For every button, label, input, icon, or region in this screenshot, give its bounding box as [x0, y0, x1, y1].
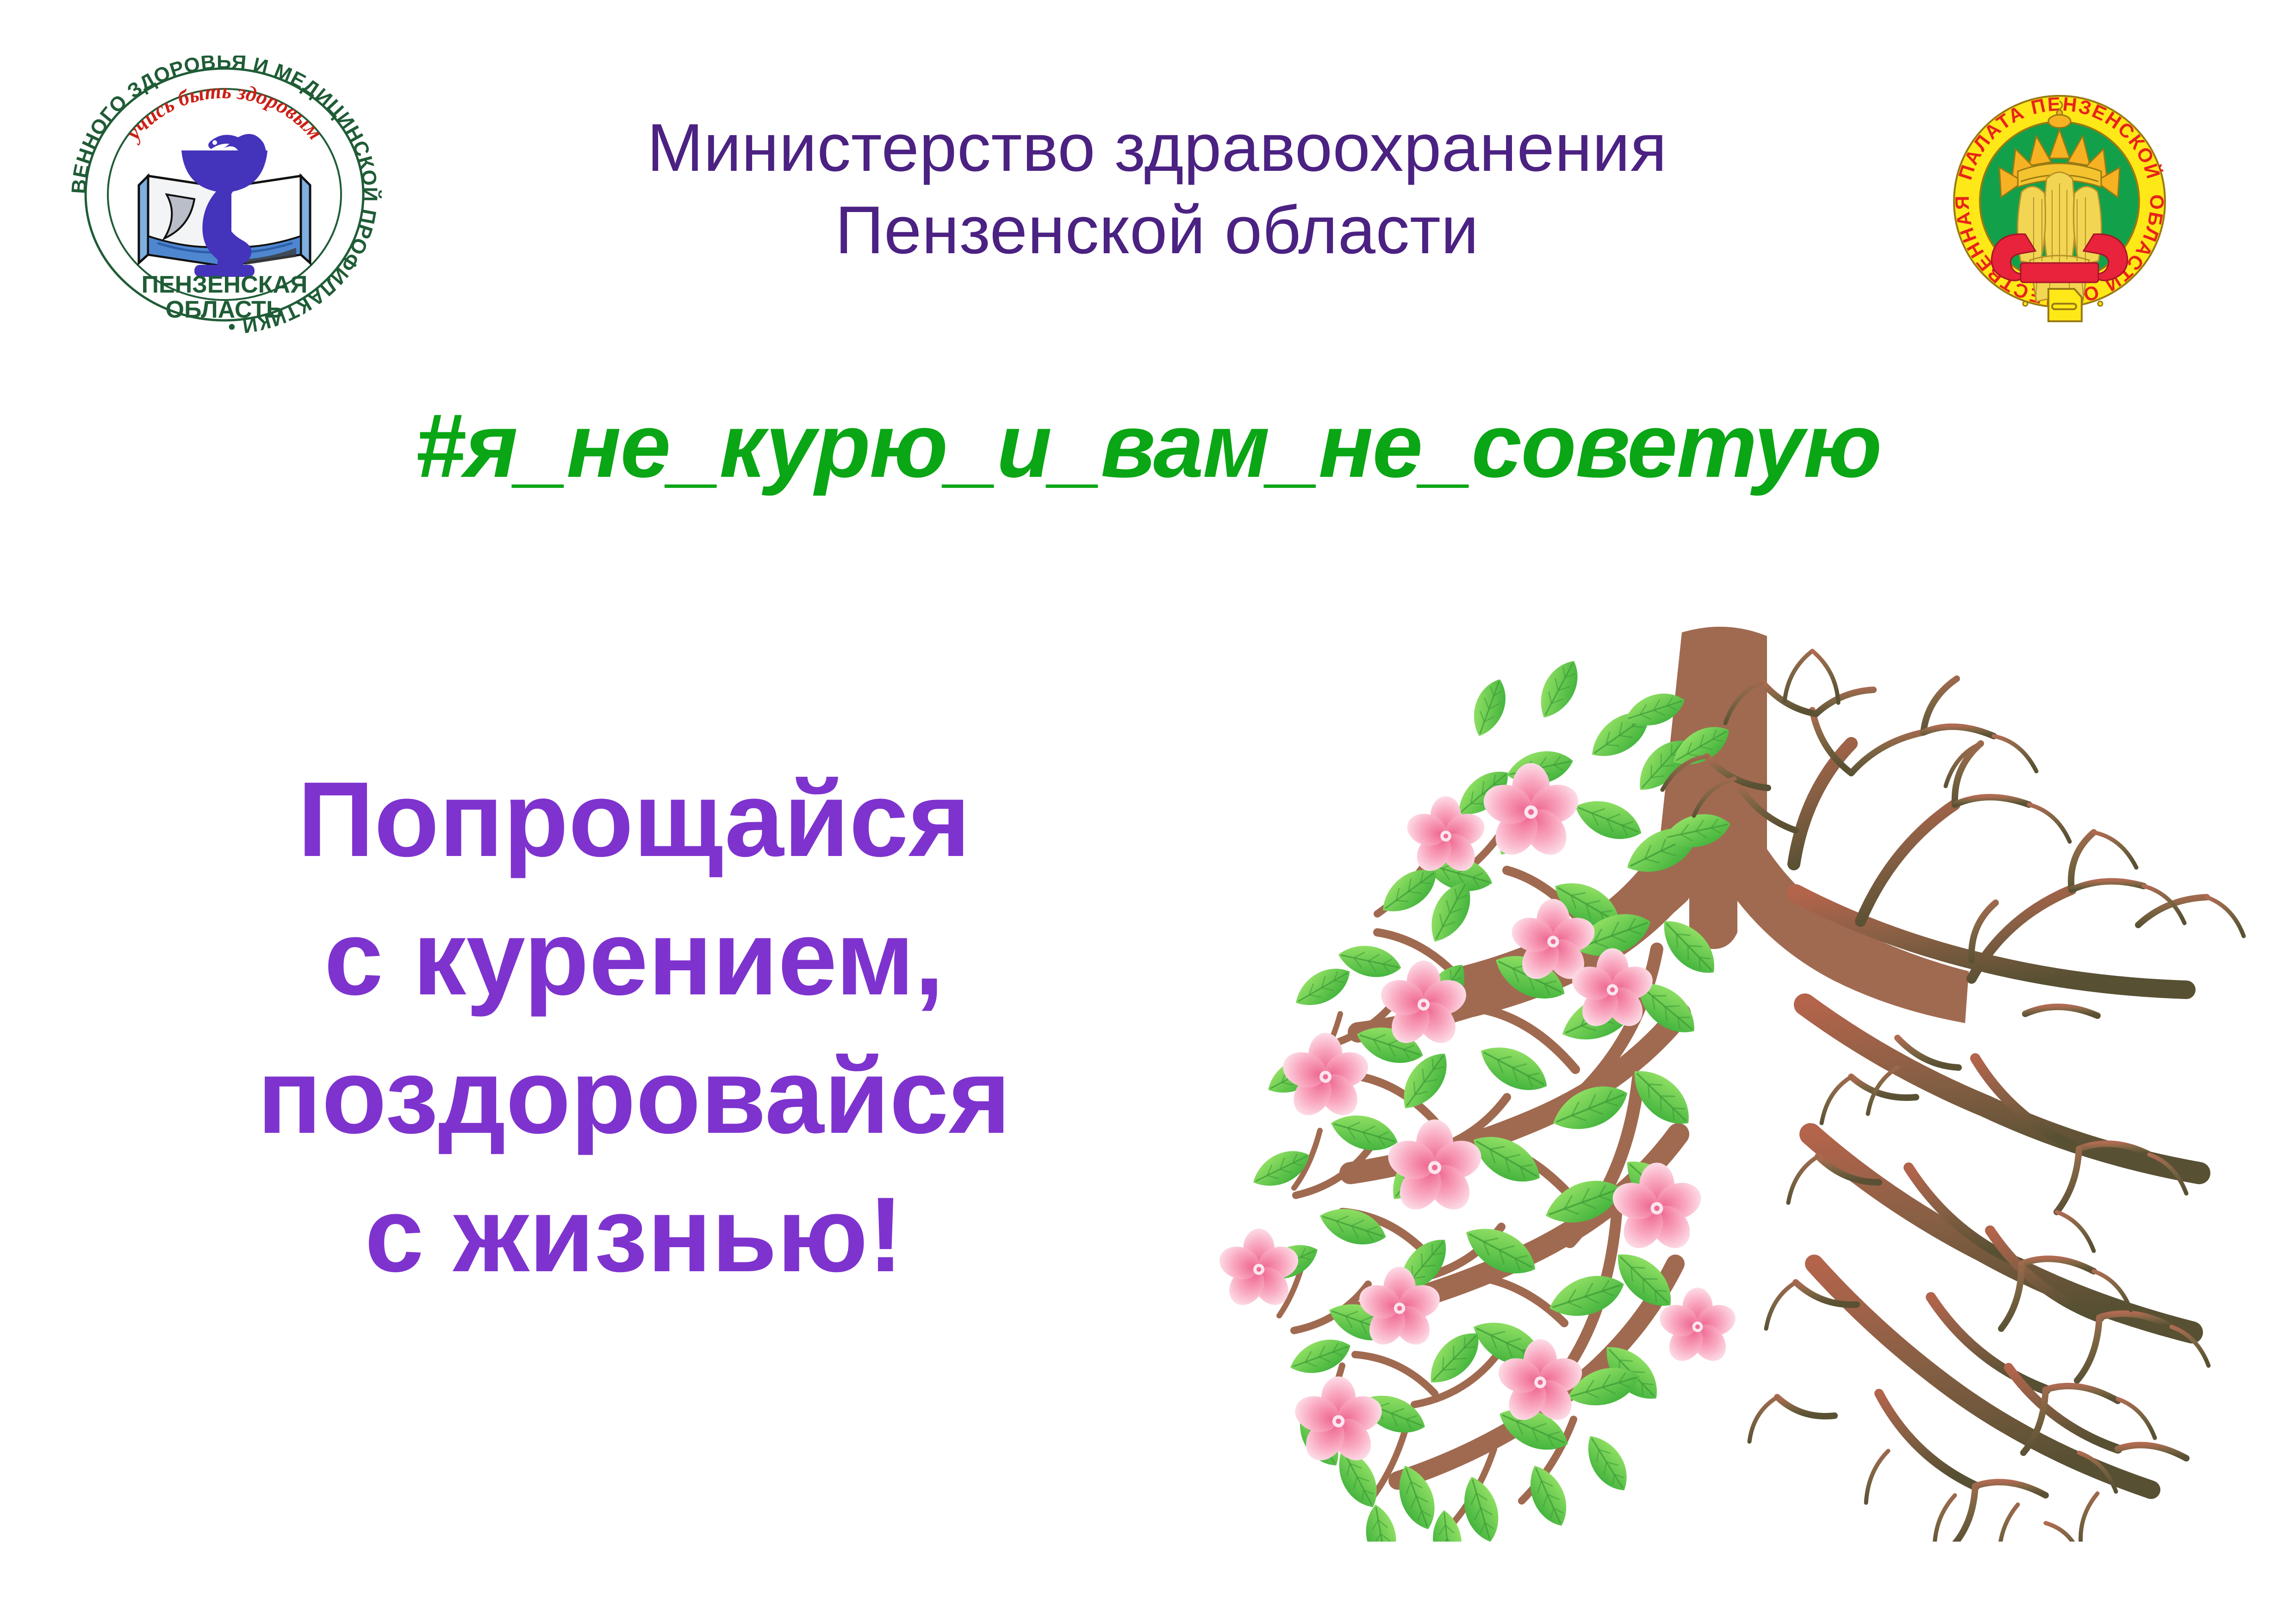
right-lung-bare-branches	[1794, 743, 2199, 1490]
slogan-line-4: с жизнью!	[83, 1165, 1185, 1304]
lungs-graphic	[1157, 616, 2282, 1542]
lungs-illustration	[1157, 616, 2282, 1542]
logo-public-chamber: ПАЛАТА ПЕНЗЕНСКОЙ ОБЛАСТИ ОБЩЕСТВЕННАЯ	[1939, 79, 2180, 324]
ministry-title-line-2: Пензенской области	[532, 189, 1782, 271]
logo-center-public-health: ЦЕНТР ОБЩЕСТВЕННОГО ЗДОРОВЬЯ И МЕДИЦИНСК…	[56, 56, 393, 333]
campaign-slogan: Попрощайся с курением, поздоровайся с жи…	[83, 750, 1185, 1304]
logo-left-region-line2: ОБЛАСТЬ	[166, 296, 284, 323]
slogan-line-1: Попрощайся	[83, 750, 1185, 888]
logo-left-region-line1: ПЕНЗЕНСКАЯ	[142, 271, 308, 298]
logo-left-graphic: ЦЕНТР ОБЩЕСТВЕННОГО ЗДОРОВЬЯ И МЕДИЦИНСК…	[56, 56, 393, 333]
logo-right-graphic: ПАЛАТА ПЕНЗЕНСКОЙ ОБЛАСТИ ОБЩЕСТВЕННАЯ	[1939, 79, 2180, 324]
header-band: ЦЕНТР ОБЩЕСТВЕННОГО ЗДОРОВЬЯ И МЕДИЦИНСК…	[0, 0, 2296, 352]
page-title: Министерство здравоохранения Пензенской …	[532, 106, 1782, 271]
ministry-title-line-1: Министерство здравоохранения	[532, 106, 1782, 189]
slogan-line-3: поздоровайся	[83, 1027, 1185, 1165]
slogan-line-2: с курением,	[83, 888, 1185, 1027]
campaign-hashtag: #я_не_курю_и_вам_не_советую	[0, 394, 2296, 498]
